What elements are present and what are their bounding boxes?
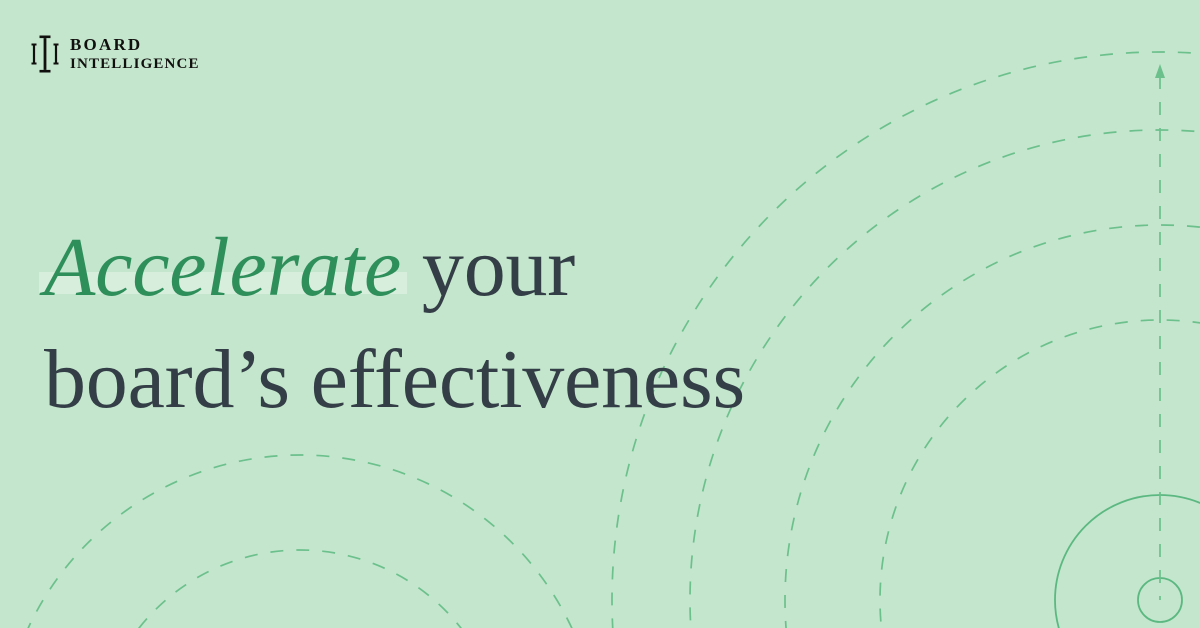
- solid-circle-group-right: [1055, 495, 1200, 628]
- solid-circle-outer: [1055, 495, 1200, 628]
- radius-indicator: [1155, 64, 1165, 600]
- radius-arrow-icon: [1155, 64, 1165, 78]
- marketing-banner: BOARD INTELLIGENCE Accelerate your board…: [0, 0, 1200, 628]
- dashed-arc-left-r300: [0, 455, 600, 628]
- headline-line-1: Accelerate your: [44, 212, 924, 324]
- brand-wordmark: BOARD INTELLIGENCE: [70, 36, 200, 72]
- brand-logo[interactable]: BOARD INTELLIGENCE: [31, 33, 200, 75]
- headline-accent-word: Accelerate: [44, 221, 401, 314]
- headline-line-2: board’s effectiveness: [44, 324, 924, 436]
- dashed-circle-group-left: [0, 455, 600, 628]
- dashed-arc-left-r205: [95, 550, 505, 628]
- headline-accent-wrap: Accelerate: [44, 212, 401, 324]
- dashed-circle-r280: [880, 320, 1200, 628]
- brand-name-line-1: BOARD: [70, 36, 200, 53]
- brand-name-line-2: INTELLIGENCE: [70, 57, 200, 72]
- three-columns-icon: [31, 33, 59, 75]
- solid-circle-inner: [1138, 578, 1182, 622]
- headline-line-1-rest: your: [401, 221, 575, 314]
- headline: Accelerate your board’s effectiveness: [44, 212, 924, 435]
- headline-line-2-text: board’s effectiveness: [44, 333, 745, 426]
